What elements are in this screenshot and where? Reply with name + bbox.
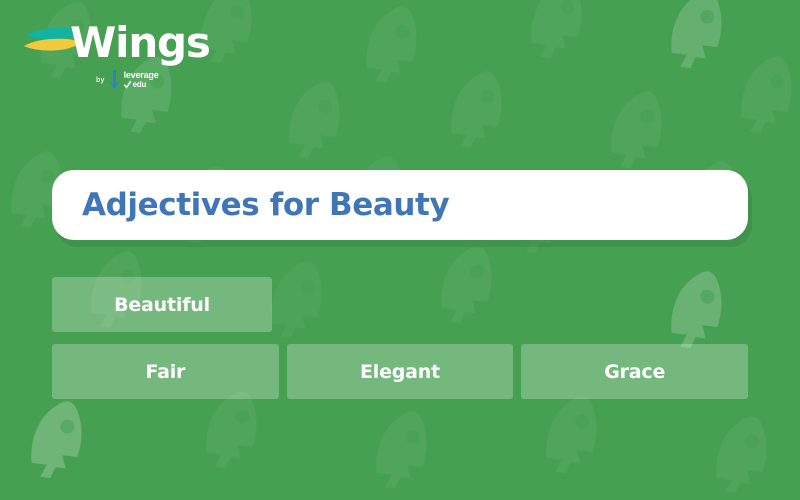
adjective-chip-label: Beautiful <box>114 294 210 316</box>
page-title: Adjectives for Beauty <box>82 187 449 223</box>
adjective-chip[interactable]: Fair <box>52 344 279 399</box>
logo-by-label: by <box>96 77 105 84</box>
adjective-chip[interactable]: Beautiful <box>52 277 272 332</box>
adjective-chip-list: Beautiful Fair Elegant Grace <box>52 277 748 411</box>
wings-logo[interactable]: Wings by leverage edu <box>20 22 200 68</box>
check-icon <box>124 81 131 89</box>
logo-subline: by leverage edu <box>96 70 159 90</box>
down-arrow-icon <box>108 70 121 90</box>
slide-canvas: Wings by leverage edu Adjectives for Bea… <box>0 0 800 500</box>
title-card: Adjectives for Beauty <box>52 170 748 240</box>
adjective-chip-label: Elegant <box>360 361 440 383</box>
logo-main: Wings <box>20 22 200 68</box>
chip-row: Fair Elegant Grace <box>52 344 748 399</box>
logo-partner: leverage edu <box>124 71 159 89</box>
adjective-chip-label: Grace <box>604 361 665 383</box>
logo-wordmark: Wings <box>70 18 210 67</box>
logo-partner-line2-row: edu <box>124 81 159 89</box>
adjective-chip-label: Fair <box>145 361 185 383</box>
logo-partner-line2: edu <box>133 81 147 89</box>
adjective-chip[interactable]: Elegant <box>287 344 514 399</box>
adjective-chip[interactable]: Grace <box>521 344 748 399</box>
chip-row: Beautiful <box>52 277 748 332</box>
